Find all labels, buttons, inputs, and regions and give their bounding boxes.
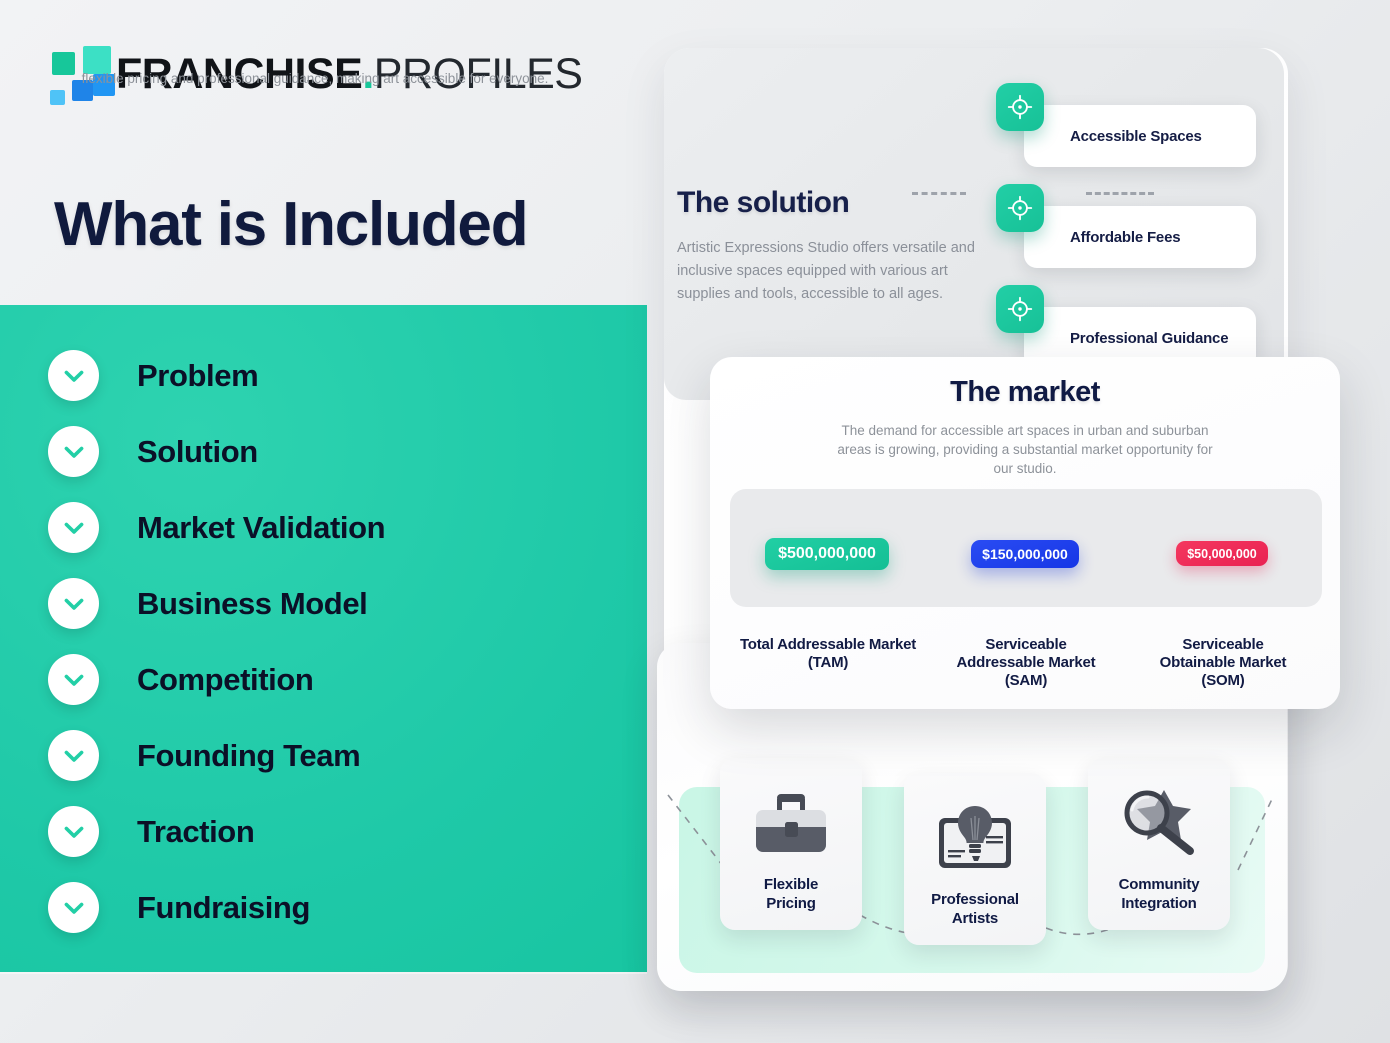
label-line-1: Community [1119,876,1200,893]
magnifier-star-icon [1116,778,1202,870]
chevron-down-icon [48,806,99,857]
icon-card-professional-artists[interactable]: Professional Artists [904,773,1046,945]
included-list-item-label: Market Validation [137,510,385,546]
included-list: ProblemSolutionMarket ValidationBusiness… [48,350,608,958]
market-connector-1 [912,192,966,195]
feature-label: Accessible Spaces [1070,128,1202,145]
included-list-item[interactable]: Problem [48,350,608,401]
chevron-down-icon [48,654,99,705]
lightbulb-certificate-icon [934,793,1016,885]
icon-card-label: Professional Artists [931,891,1019,929]
included-list-item-label: Solution [137,434,258,470]
briefcase-icon [752,778,830,870]
market-value-tam: $500,000,000 [765,538,889,570]
label-line-1: Flexible [764,876,818,893]
included-list-item-label: Traction [137,814,254,850]
label-line-2: Integration [1121,895,1196,912]
market-connector-2 [1086,192,1154,195]
icon-card-label: Flexible Pricing [764,876,818,914]
target-icon [996,83,1044,131]
target-icon [996,184,1044,232]
market-value-sam: $150,000,000 [971,540,1079,568]
label-line-2: Artists [952,910,998,927]
feature-pill-box: Affordable Fees [1024,206,1256,268]
chevron-down-icon [48,426,99,477]
label-line-1: Professional [931,891,1019,908]
included-list-item-label: Problem [137,358,258,394]
included-list-item-label: Competition [137,662,313,698]
label-line-2: Pricing [766,895,815,912]
market-label-som: Serviceable Obtainable Market (SOM) [1148,636,1298,690]
chevron-down-icon [48,350,99,401]
included-list-item[interactable]: Competition [48,654,608,705]
included-list-item[interactable]: Traction [48,806,608,857]
included-list-item[interactable]: Fundraising [48,882,608,933]
market-heading: The market [710,376,1340,409]
included-list-item[interactable]: Founding Team [48,730,608,781]
market-value-som: $50,000,000 [1176,541,1268,566]
included-list-item[interactable]: Market Validation [48,502,608,553]
solution-body: Artistic Expressions Studio offers versa… [677,237,977,306]
chevron-down-icon [48,578,99,629]
included-list-item-label: Founding Team [137,738,360,774]
feature-label: Professional Guidance [1070,330,1228,347]
icon-card-label: Community Integration [1119,876,1200,914]
chevron-down-icon [48,730,99,781]
solution-heading-block: The solution Artistic Expressions Studio… [677,186,977,306]
feature-label: Affordable Fees [1070,229,1180,246]
icon-card-community-integration[interactable]: Community Integration [1088,758,1230,930]
chevron-down-icon [48,882,99,933]
market-label-tam: Total Addressable Market (TAM) [738,636,918,672]
chevron-down-icon [48,502,99,553]
icon-card-flexible-pricing[interactable]: Flexible Pricing [720,758,862,930]
market-body: The demand for accessible art spaces in … [835,421,1215,478]
page-title: What is Included [54,192,527,257]
slide-canvas: FRANCHISE.PROFILES What is Included Prob… [0,0,1390,1043]
feature-pill-box: Accessible Spaces [1024,105,1256,167]
included-list-item[interactable]: Business Model [48,578,608,629]
target-icon [996,285,1044,333]
included-list-item[interactable]: Solution [48,426,608,477]
bottom-body-text: flexible pricing and professional guidan… [0,69,630,89]
market-label-sam: Serviceable Addressable Market (SAM) [946,636,1106,690]
included-list-item-label: Fundraising [137,890,310,926]
included-list-item-label: Business Model [137,586,367,622]
